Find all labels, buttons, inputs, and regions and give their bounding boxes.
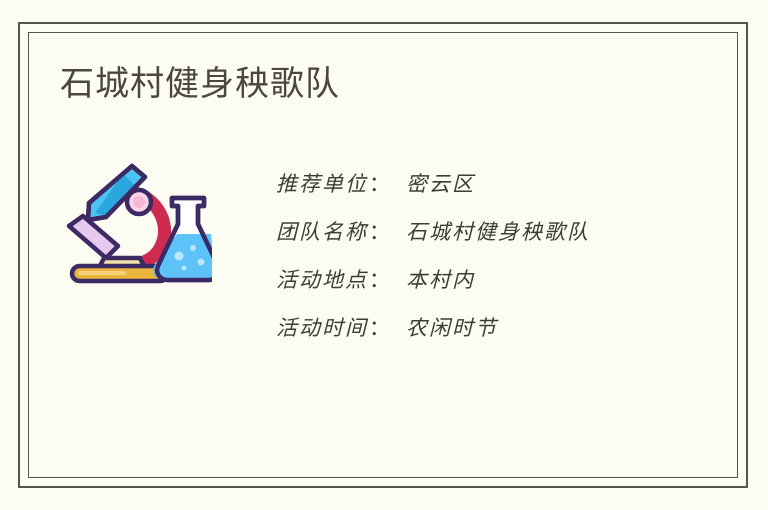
detail-value: 本村内 bbox=[406, 264, 475, 294]
detail-colon: ： bbox=[368, 264, 406, 294]
detail-value: 石城村健身秧歌队 bbox=[406, 216, 590, 246]
card-content: 推荐单位 ： 密云区 团队名称 ： 石城村健身秧歌队 活动地点 ： 本村内 活动… bbox=[20, 142, 746, 360]
page-title: 石城村健身秧歌队 bbox=[60, 64, 340, 105]
detail-label: 推荐单位 bbox=[232, 168, 368, 198]
microscope-flask-icon bbox=[52, 160, 222, 290]
detail-row: 活动地点 ： 本村内 bbox=[232, 264, 746, 312]
details-list: 推荐单位 ： 密云区 团队名称 ： 石城村健身秧歌队 活动地点 ： 本村内 活动… bbox=[222, 142, 746, 360]
detail-colon: ： bbox=[368, 168, 406, 198]
detail-colon: ： bbox=[368, 216, 406, 246]
detail-colon: ： bbox=[368, 312, 406, 342]
detail-row: 团队名称 ： 石城村健身秧歌队 bbox=[232, 216, 746, 264]
detail-label: 团队名称 bbox=[232, 216, 368, 246]
detail-row: 活动时间 ： 农闲时节 bbox=[232, 312, 746, 360]
detail-row: 推荐单位 ： 密云区 bbox=[232, 168, 746, 216]
detail-value: 密云区 bbox=[406, 168, 475, 198]
info-card: 石城村健身秧歌队 bbox=[18, 22, 748, 488]
detail-value: 农闲时节 bbox=[406, 312, 498, 342]
detail-label: 活动时间 bbox=[232, 312, 368, 342]
detail-label: 活动地点 bbox=[232, 264, 368, 294]
